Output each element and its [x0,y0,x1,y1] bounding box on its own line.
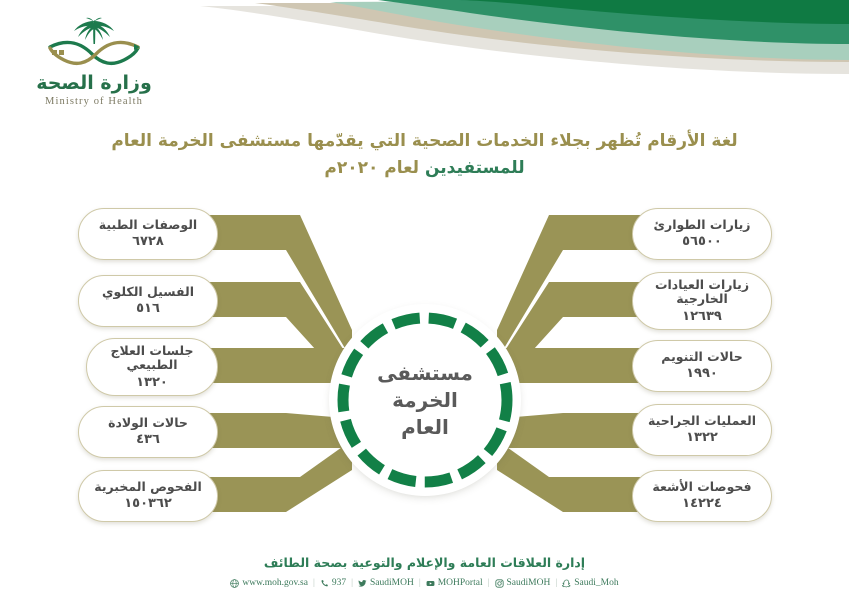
pill-value: ١٣٢٠ [136,375,168,391]
pill-label: الفحوص المخبرية [88,480,208,495]
footer-department: إدارة العلاقات العامة والإعلام والتوعية … [0,554,849,572]
footer-separator: | [555,578,557,588]
metric-pill-outpatient-visits[interactable]: زيارات العيادات الخارجية ١٢٦٣٩ [632,272,772,330]
metric-pill-surgeries[interactable]: العمليات الجراحية ١٣٢٢ [632,404,772,456]
metric-pill-prescriptions[interactable]: الوصفات الطبية ٦٧٢٨ [78,208,218,260]
pill-label: الفسيل الكلوي [96,285,200,300]
footer-separator: | [351,578,353,588]
pill-label: زيارات العيادات الخارجية [633,278,771,307]
pill-label: حالات الولادة [102,416,194,431]
ribbon-left-4 [205,413,345,448]
ribbon-left-5 [205,440,352,512]
pill-value: ١٩٩٠ [686,366,718,382]
footer-link-text: 937 [332,578,346,588]
pill-value: ١٥٠٣٦٢ [124,496,172,512]
pill-label: فحوصات الأشعة [646,480,757,495]
globe-icon [230,579,239,588]
pill-label: الوصفات الطبية [93,218,203,233]
footer-link-text: MOHPortal [438,578,483,588]
metric-pill-radiology[interactable]: فحوصات الأشعة ١٤٢٢٤ [632,470,772,522]
snapchat-icon [562,579,571,588]
footer-link-website[interactable]: www.moh.gov.sa [230,578,308,588]
hub-line-2: الخرمة [377,387,473,414]
pill-value: ٥٦٥٠٠ [682,234,722,250]
ribbon-right-3 [504,348,644,383]
footer-separator: | [419,578,421,588]
hub-line-3: العام [377,414,473,441]
pill-value: ٥١٦ [136,301,160,317]
pill-value: ١٣٢٢ [686,430,718,446]
pill-label: العمليات الجراحية [642,414,762,429]
phone-icon [320,579,329,588]
footer-link-twitter[interactable]: SaudiMOH [358,578,414,588]
footer: إدارة العلاقات العامة والإعلام والتوعية … [0,554,849,588]
footer-link-text: SaudiMOH [370,578,414,588]
hub-title: مستشفى الخرمة العام [377,360,473,441]
footer-link-phone[interactable]: 937 [320,578,346,588]
ribbon-right-4 [504,413,644,448]
metric-pill-admissions[interactable]: حالات التنويم ١٩٩٠ [632,340,772,392]
footer-link-text: www.moh.gov.sa [242,578,308,588]
footer-link-instagram[interactable]: SaudiMOH [495,578,551,588]
pill-label: حالات التنويم [655,350,748,365]
infographic-page: وزارة الصحة Ministry of Health لغة الأرق… [0,0,849,600]
pill-value: ١٢٦٣٩ [682,309,722,325]
metric-pill-physiotherapy[interactable]: جلسات العلاج الطبيعي ١٣٢٠ [86,338,218,396]
pill-value: ٦٧٢٨ [132,234,164,250]
instagram-icon [495,579,504,588]
ribbon-right-5 [497,440,644,512]
pill-value: ١٤٢٢٤ [682,496,722,512]
youtube-icon [426,579,435,588]
pill-value: ٤٣٦ [136,432,160,448]
hub-line-1: مستشفى [377,360,473,387]
footer-link-snapchat[interactable]: Saudi_Moh [562,578,618,588]
pill-label: جلسات العلاج الطبيعي [87,344,217,373]
footer-separator: | [488,578,490,588]
metric-pill-emergency-visits[interactable]: زيارات الطوارئ ٥٦٥٠٠ [632,208,772,260]
footer-link-text: Saudi_Moh [574,578,618,588]
twitter-icon [358,579,367,588]
metric-pill-dialysis[interactable]: الفسيل الكلوي ٥١٦ [78,275,218,327]
metric-pill-lab-tests[interactable]: الفحوص المخبرية ١٥٠٣٦٢ [78,470,218,522]
footer-link-youtube[interactable]: MOHPortal [426,578,483,588]
footer-separator: | [313,578,315,588]
footer-link-text: SaudiMOH [507,578,551,588]
pill-label: زيارات الطوارئ [648,218,757,233]
ribbon-left-3 [205,348,345,383]
metric-pill-births[interactable]: حالات الولادة ٤٣٦ [78,406,218,458]
center-hub: مستشفى الخرمة العام [332,307,518,493]
footer-contact-links: www.moh.gov.sa | 937 | SaudiMOH | [0,578,849,588]
